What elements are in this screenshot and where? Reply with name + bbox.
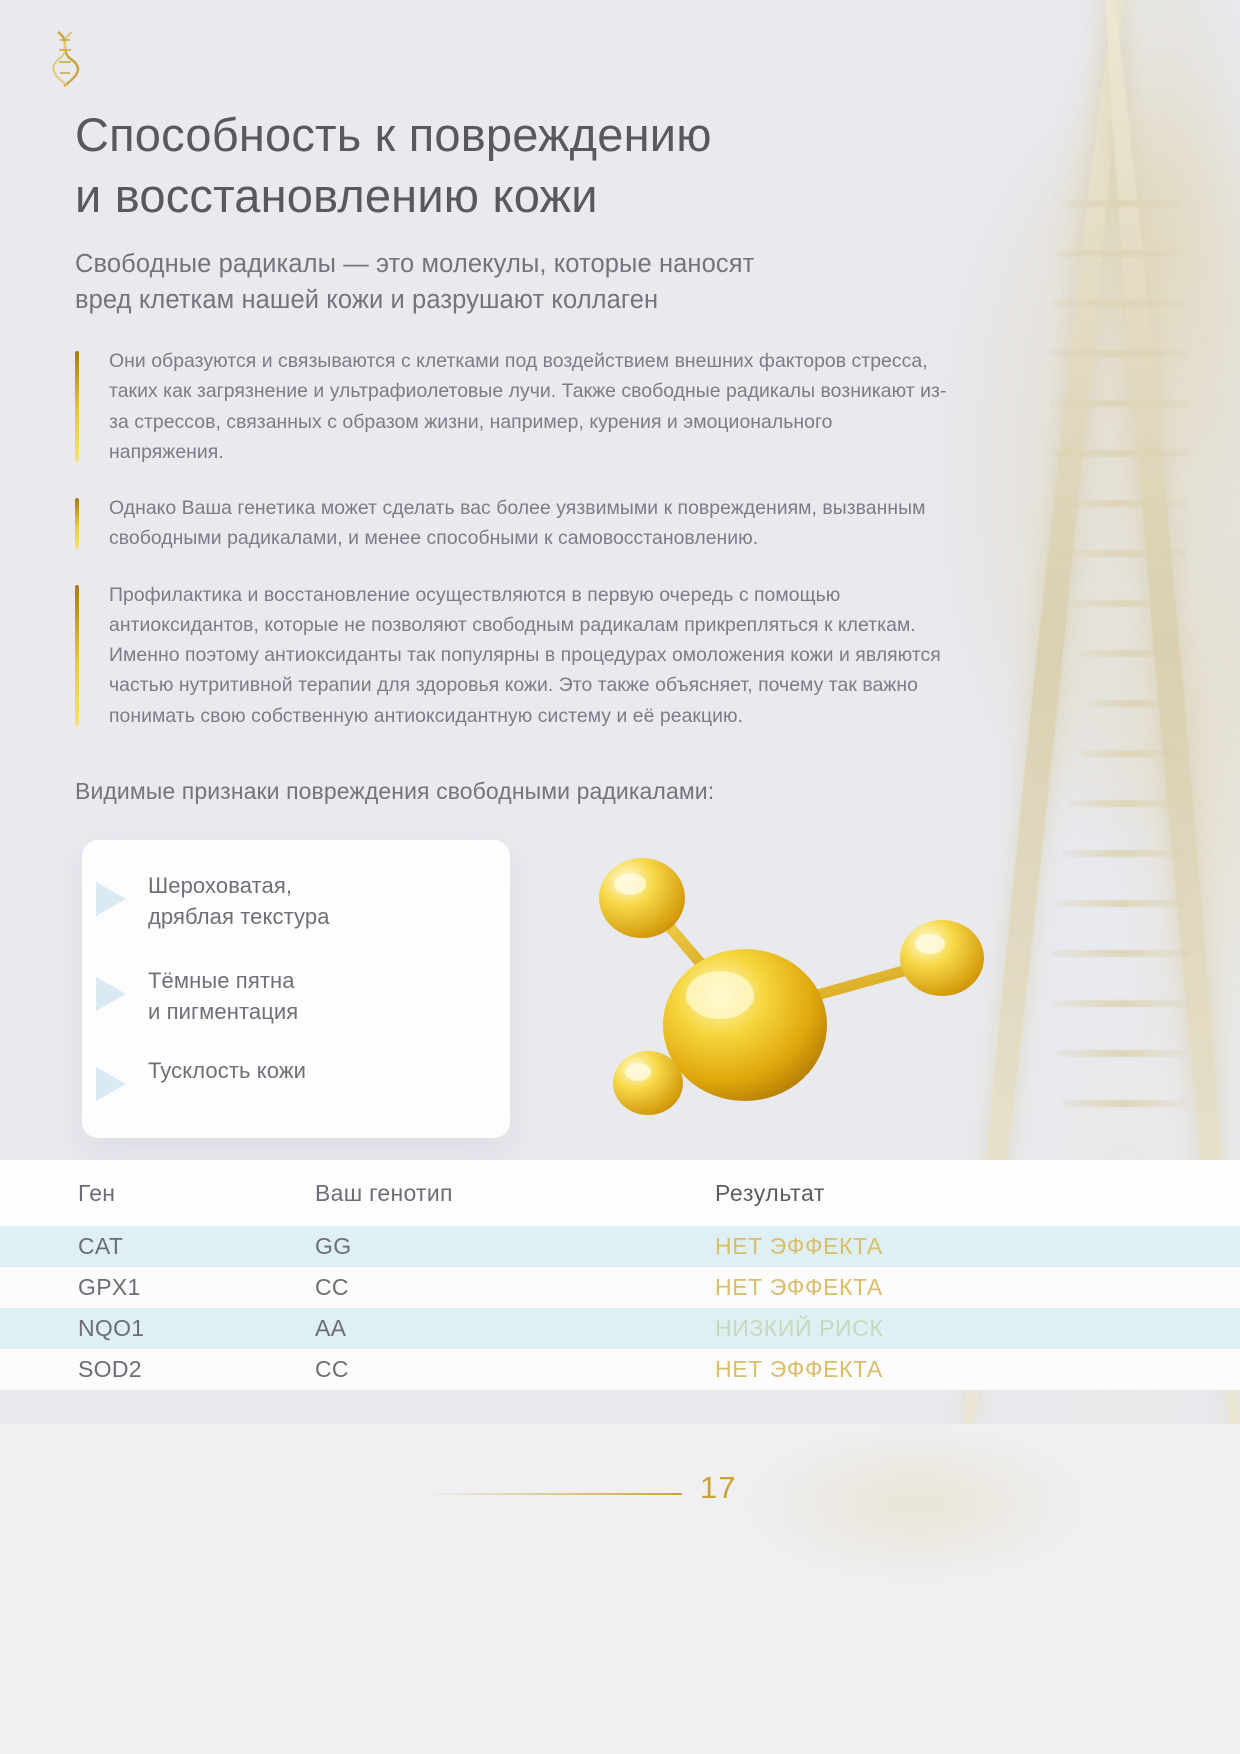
page-subtitle-line-1: Свободные радикалы — это молекулы, котор… bbox=[75, 250, 754, 278]
cell-result: НИЗКИЙ РИСК bbox=[715, 1315, 1240, 1342]
footer-decoration bbox=[700, 1424, 1240, 1624]
page-title-line-2: и восстановлению кожи bbox=[75, 169, 598, 222]
triangle-right-icon bbox=[96, 977, 126, 1011]
cell-gene: GPX1 bbox=[0, 1274, 315, 1301]
cell-result: НЕТ ЭФФЕКТА bbox=[715, 1274, 1240, 1301]
golden-molecule-illustration bbox=[570, 840, 1030, 1140]
dna-rung bbox=[1080, 750, 1178, 757]
list-item: Тусклость кожи bbox=[96, 1055, 306, 1101]
table-row: GPX1 CC НЕТ ЭФФЕКТА bbox=[0, 1267, 1240, 1308]
paragraph-text: Они образуются и связываются с клетками … bbox=[109, 346, 950, 467]
cell-genotype: CC bbox=[315, 1356, 715, 1383]
cell-gene: NQO1 bbox=[0, 1315, 315, 1342]
paragraph-blocks: Они образуются и связываются с клетками … bbox=[75, 346, 950, 757]
page-number: 17 bbox=[700, 1470, 736, 1506]
cell-gene: CAT bbox=[0, 1233, 315, 1260]
table-row: CAT GG НЕТ ЭФФЕКТА bbox=[0, 1226, 1240, 1267]
dna-rung bbox=[1056, 500, 1188, 507]
dna-rung bbox=[1056, 250, 1184, 257]
cell-genotype: GG bbox=[315, 1233, 715, 1260]
triangle-right-icon bbox=[96, 882, 126, 916]
dna-rung bbox=[1080, 650, 1178, 657]
cell-result: НЕТ ЭФФЕКТА bbox=[715, 1356, 1240, 1383]
dna-rung bbox=[1062, 1100, 1186, 1107]
list-item-label: Шероховатая, дряблая текстура bbox=[148, 870, 330, 932]
page-subtitle-line-2: вред клеткам нашей кожи и разрушают колл… bbox=[75, 286, 658, 314]
dna-rung bbox=[1088, 700, 1174, 707]
cell-result: НЕТ ЭФФЕКТА bbox=[715, 1233, 1240, 1260]
table-row: NQO1 AA НИЗКИЙ РИСК bbox=[0, 1308, 1240, 1349]
table-header-row: Ген Ваш генотип Результат bbox=[0, 1160, 1240, 1226]
report-page: Способность к повреждению и восстановлен… bbox=[0, 0, 1240, 1754]
visible-signs-label: Видимые признаки повреждения свободными … bbox=[75, 778, 975, 805]
page-title: Способность к повреждению и восстановлен… bbox=[75, 104, 955, 226]
dna-rung bbox=[1050, 400, 1190, 407]
dna-rung bbox=[1050, 350, 1188, 357]
dna-rung bbox=[1052, 1000, 1190, 1007]
dna-rung bbox=[1062, 550, 1186, 557]
dna-rung bbox=[1052, 950, 1190, 957]
dna-rung bbox=[1070, 600, 1182, 607]
dna-rung bbox=[1060, 200, 1180, 207]
list-item-label: Тёмные пятна и пигментация bbox=[148, 965, 298, 1027]
list-item-line-1: Шероховатая, bbox=[148, 873, 292, 898]
table-header-genotype: Ваш генотип bbox=[315, 1180, 715, 1207]
cell-genotype: AA bbox=[315, 1315, 715, 1342]
table-header-gene: Ген bbox=[0, 1180, 315, 1207]
paragraph-block: Они образуются и связываются с клетками … bbox=[75, 346, 950, 467]
paragraph-text: Однако Ваша генетика может сделать вас б… bbox=[109, 493, 950, 554]
table-row: SOD2 CC НЕТ ЭФФЕКТА bbox=[0, 1349, 1240, 1390]
page-title-line-1: Способность к повреждению bbox=[75, 108, 712, 161]
list-item: Тёмные пятна и пигментация bbox=[96, 965, 298, 1027]
dna-rung bbox=[1056, 900, 1188, 907]
dna-rung bbox=[1070, 800, 1182, 807]
cell-gene: SOD2 bbox=[0, 1356, 315, 1383]
list-item-label: Тусклость кожи bbox=[148, 1055, 306, 1086]
triangle-right-icon bbox=[96, 1067, 126, 1101]
dna-rung bbox=[1052, 300, 1186, 307]
list-item-line-2: и пигментация bbox=[148, 999, 298, 1024]
list-item: Шероховатая, дряблая текстура bbox=[96, 870, 330, 932]
footer-divider bbox=[420, 1493, 682, 1495]
list-item-line-1: Тёмные пятна bbox=[148, 968, 295, 993]
genotype-table: Ген Ваш генотип Результат CAT GG НЕТ ЭФФ… bbox=[0, 1160, 1240, 1390]
dna-rung bbox=[1056, 1050, 1188, 1057]
cell-genotype: CC bbox=[315, 1274, 715, 1301]
list-item-line-2: дряблая текстура bbox=[148, 904, 330, 929]
list-item-line-1: Тусклость кожи bbox=[148, 1058, 306, 1083]
dna-rung bbox=[1052, 450, 1190, 457]
paragraph-block: Однако Ваша генетика может сделать вас б… bbox=[75, 493, 950, 554]
paragraph-block: Профилактика и восстановление осуществля… bbox=[75, 580, 950, 731]
page-subtitle: Свободные радикалы — это молекулы, котор… bbox=[75, 246, 945, 319]
dna-helix-logo-icon bbox=[42, 28, 88, 90]
table-header-result: Результат bbox=[715, 1180, 1240, 1207]
paragraph-text: Профилактика и восстановление осуществля… bbox=[109, 580, 950, 731]
dna-rung bbox=[1062, 850, 1186, 857]
